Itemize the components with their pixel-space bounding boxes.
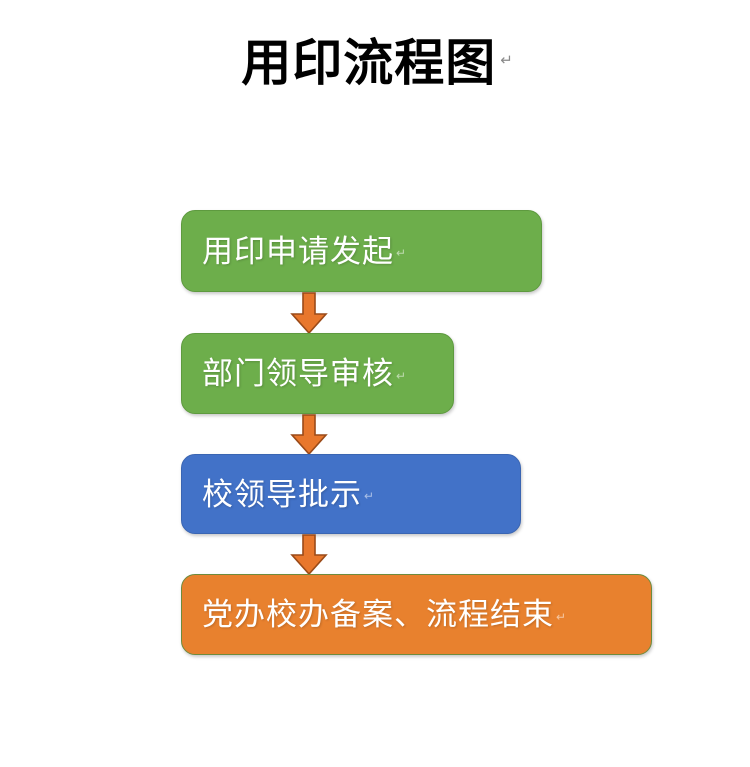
flow-node-label: 校领导批示 [182, 479, 362, 510]
flow-node-department-review[interactable]: 部门领导审核↵ [181, 333, 454, 414]
flow-arrow-down-3 [290, 534, 328, 575]
paragraph-mark-icon: ↵ [556, 610, 566, 624]
paragraph-mark-icon: ↵ [396, 246, 406, 260]
flow-arrow-down-1 [290, 292, 328, 334]
paragraph-mark-icon: ↵ [396, 369, 406, 383]
flowchart-page: 用印流程图↵ 用印申请发起↵ 部门领导审核↵ 校领导批示↵ [0, 0, 750, 767]
flowchart-canvas: 用印申请发起↵ 部门领导审核↵ 校领导批示↵ [0, 0, 750, 767]
flow-node-label: 用印申请发起 [182, 236, 394, 267]
flow-node-school-leader-approval[interactable]: 校领导批示↵ [181, 454, 521, 534]
paragraph-mark-icon: ↵ [364, 489, 374, 503]
flow-node-application-start[interactable]: 用印申请发起↵ [181, 210, 542, 292]
flow-arrow-down-2 [290, 414, 328, 455]
flow-node-label: 党办校办备案、流程结束 [182, 599, 554, 630]
flow-node-label: 部门领导审核 [182, 358, 394, 389]
flow-node-record-and-finish[interactable]: 党办校办备案、流程结束↵ [181, 574, 652, 655]
